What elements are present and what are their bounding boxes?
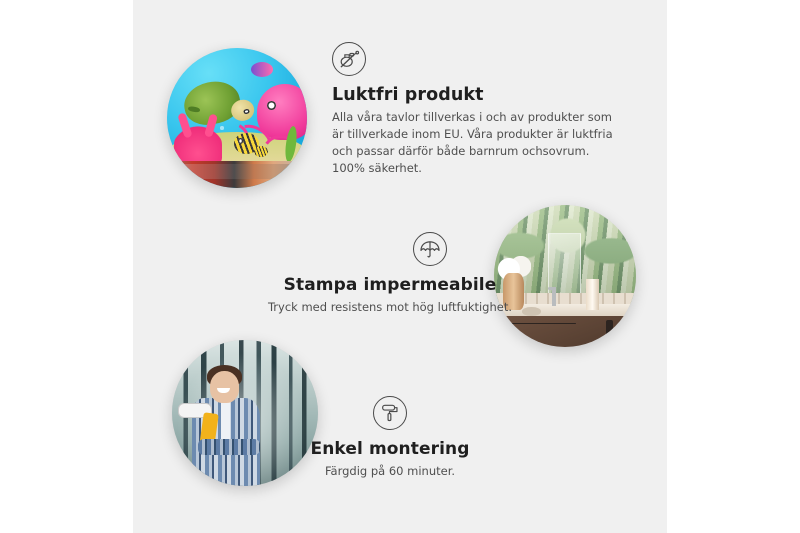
coral-icon [174, 124, 222, 166]
turtle-fin-icon [188, 105, 201, 113]
feature-title: Stampa impermeabile [222, 275, 558, 295]
screenshot-canvas: Luktfri produkt Alla våra tavlor tillver… [0, 0, 800, 533]
feature-mounting: Enkel montering Färgdig på 60 minuter. [300, 396, 480, 480]
paint-roller-icon [373, 396, 407, 430]
person-head-icon [210, 371, 239, 403]
no-odour-perfume-bottle-icon [332, 42, 366, 76]
forest-scene [172, 340, 318, 486]
person-arms-icon [198, 439, 259, 455]
photo-underwater [167, 48, 307, 188]
feature-body: Tryck med resistens mot hög luftfuktighe… [222, 299, 558, 316]
underwater-scene [167, 48, 307, 188]
feature-waterproof: Stampa impermeabile Tryck med resistens … [222, 232, 558, 316]
room-furniture-strip [167, 161, 307, 188]
fish-icon [254, 146, 268, 157]
feature-body: Färgdig på 60 minuter. [300, 463, 480, 480]
feature-title: Luktfri produkt [332, 85, 632, 105]
photo-forest [172, 340, 318, 486]
umbrella-icon [413, 232, 447, 266]
feature-body: Alla våra tavlor tillverkas i och av pro… [332, 109, 624, 177]
vanity-cabinet-icon [494, 316, 636, 347]
bottle-icon [586, 279, 599, 310]
feature-title: Enkel montering [300, 439, 480, 459]
feature-odourless: Luktfri produkt Alla våra tavlor tillver… [332, 42, 632, 177]
content-panel: Luktfri produkt Alla våra tavlor tillver… [133, 0, 667, 533]
